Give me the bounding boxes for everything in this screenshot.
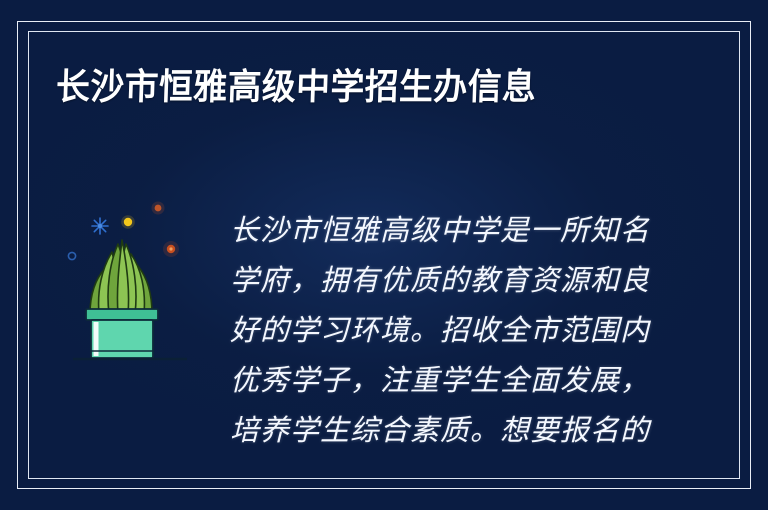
dot-sparkle-blue-left: [68, 252, 75, 259]
dot-sparkle-orange-top: [152, 202, 165, 215]
plant-pot: [86, 309, 158, 358]
dot-sparkle-yellow: [121, 215, 135, 229]
body-line: 优秀学子，注重学生全面发展，: [230, 355, 650, 405]
body-line: 学府，拥有优质的教育资源和良: [230, 255, 650, 305]
body-line: 好的学习环境。招收全市范围内: [230, 305, 650, 355]
body-line: 长沙市恒雅高级中学是一所知名: [230, 205, 650, 255]
snowflake-sparkle: [92, 218, 108, 234]
plant-leaves: [90, 240, 152, 314]
dot-sparkle-orange-right: [163, 241, 179, 257]
page-title: 长沙市恒雅高级中学招生办信息: [55, 66, 537, 110]
poster-canvas: 长沙市恒雅高级中学招生办信息: [0, 0, 768, 510]
potted-plant-illustration: [60, 196, 200, 371]
body-line: 培养学生综合素质。想要报名的: [230, 405, 650, 455]
body-paragraph: 长沙市恒雅高级中学是一所知名 学府，拥有优质的教育资源和良 好的学习环境。招收全…: [230, 205, 650, 455]
